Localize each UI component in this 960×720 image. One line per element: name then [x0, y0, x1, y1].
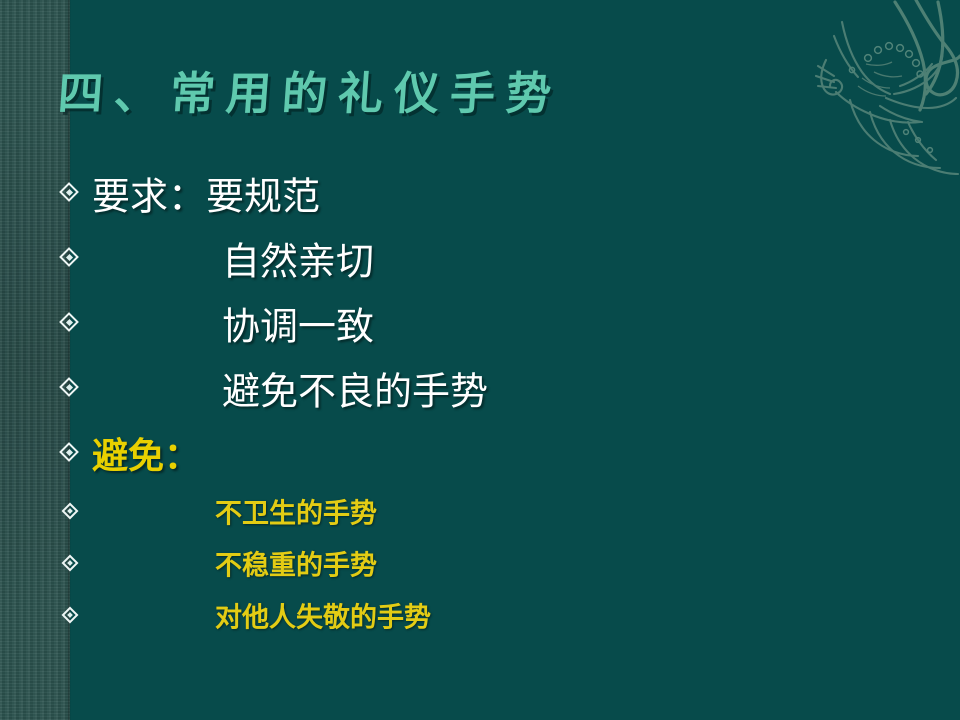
list-item[interactable]: 对他人失敬的手势 — [0, 589, 960, 641]
slide-title: 四、常用的礼仪手势 — [55, 54, 761, 134]
list-item[interactable]: 要求：要规范 — [0, 160, 960, 225]
diamond-bullet-icon — [60, 183, 80, 203]
phoenix-ornament — [790, 0, 960, 175]
diamond-bullet-icon — [60, 443, 80, 463]
list-item[interactable]: 不稳重的手势 — [0, 537, 960, 589]
list-item[interactable]: 避免不良的手势 — [0, 355, 960, 420]
list-item-label: 不卫生的手势 — [215, 492, 377, 531]
diamond-bullet-icon — [60, 313, 80, 333]
bullet-list: 要求：要规范 自然亲切 协调一致 避免不良的手势 避免： — [0, 160, 960, 641]
slide-canvas: 四、常用的礼仪手势 要求：要规范 自然亲切 协调一致 避免不良的手势 — [0, 0, 960, 720]
diamond-bullet-icon — [60, 378, 80, 398]
list-item[interactable]: 协调一致 — [0, 290, 960, 355]
diamond-bullet-icon — [63, 556, 78, 571]
list-item-label: 对他人失敬的手势 — [215, 596, 431, 635]
list-item-label: 协调一致 — [222, 295, 374, 350]
list-item-label: 避免： — [92, 427, 200, 479]
list-item-label: 避免不良的手势 — [222, 360, 488, 415]
diamond-bullet-icon — [63, 608, 78, 623]
list-item-label: 自然亲切 — [222, 230, 374, 285]
diamond-bullet-icon — [63, 504, 78, 519]
list-item[interactable]: 自然亲切 — [0, 225, 960, 290]
list-item-label: 要求：要规范 — [92, 165, 320, 220]
diamond-bullet-icon — [60, 248, 80, 268]
list-item-label: 不稳重的手势 — [215, 544, 377, 583]
list-item[interactable]: 避免： — [0, 420, 960, 485]
list-item[interactable]: 不卫生的手势 — [0, 485, 960, 537]
